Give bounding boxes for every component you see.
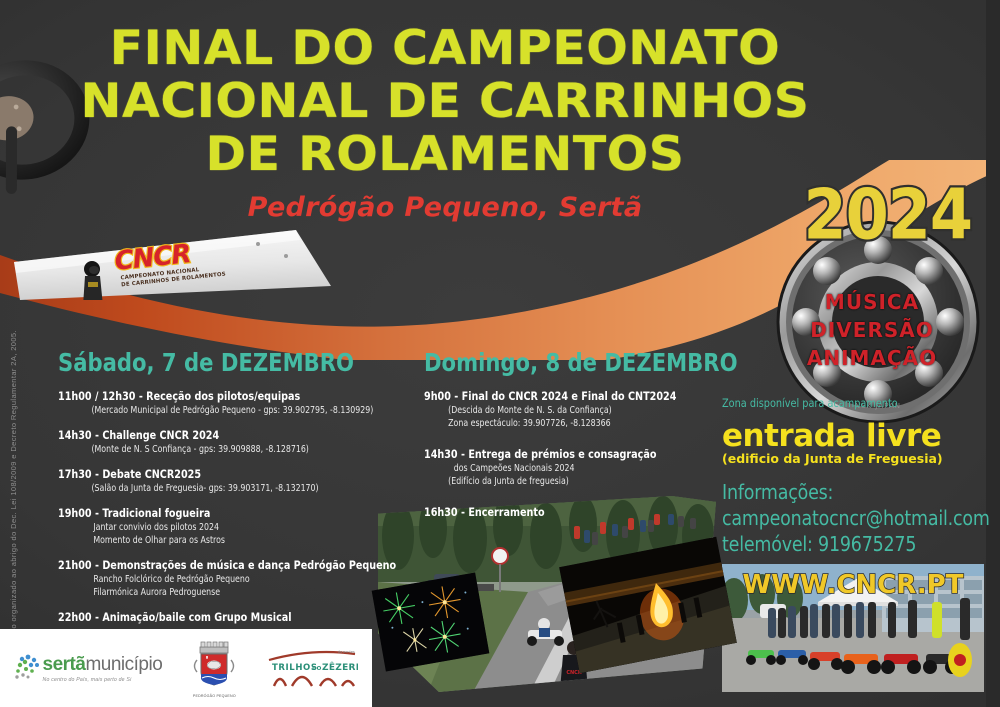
- svg-text:TRILHOS: TRILHOS: [272, 663, 318, 673]
- event-detail: (Salão da Junta de Freguesia- gps: 39.90…: [58, 482, 365, 495]
- schedule-item: 11h00 / 12h30 - Receção dos pilotos/equi…: [58, 389, 388, 417]
- crest-caption: PEDRÓGÃO PEQUENO: [193, 694, 236, 698]
- serta-dots-icon: [14, 651, 40, 685]
- event-title: 14h30 - Challenge CNCR 2024: [58, 428, 365, 443]
- contact-phone[interactable]: telemóvel: 919675275: [722, 531, 990, 557]
- schedule-item: 17h30 - Debate CNCR2025 (Salão da Junta …: [58, 467, 388, 495]
- serta-tagline: No centro do País, mais perto de Si: [43, 677, 163, 683]
- heraldic-crest-icon: [189, 638, 239, 694]
- logo-serta-municipio: sertãmunicípio No centro do País, mais p…: [14, 635, 163, 701]
- event-detail: (Descida do Monte de N. S. da Confiança): [424, 404, 694, 417]
- event-title: 19h00 - Tradicional fogueira: [58, 506, 365, 521]
- music-word-2: DIVERSÃO: [792, 316, 952, 344]
- event-title: 9h00 - Final do CNCR 2024 e Final do CNT…: [424, 389, 694, 404]
- free-entry-venue: (edificio da Junta de Freguesia): [722, 451, 943, 466]
- title-line-1: FINAL DO CAMPEONATO: [0, 22, 908, 75]
- serta-name: sertã: [43, 654, 86, 675]
- schedule-saturday: Sábado, 7 de DEZEMBRO 11h00 / 12h30 - Re…: [58, 348, 388, 636]
- year-badge: 2024: [803, 174, 972, 256]
- event-detail: Momento de Olhar para os Astros: [58, 534, 365, 547]
- event-detail: Filarmónica Aurora Pedroguense: [58, 586, 365, 599]
- event-title: 22h00 - Animação/baile com Grupo Musical: [58, 610, 365, 625]
- logo-trilhos-do-zezere: TRILHOS DO ZÊZERE As pontes: [266, 635, 358, 701]
- contact-info-block: Informações: campeonatocncr@hotmail.com …: [722, 479, 990, 557]
- event-detail: (Edifício da Junta de freguesia): [424, 475, 694, 488]
- event-detail: Jantar convivio dos pilotos 2024: [58, 521, 365, 534]
- event-title: 16h30 - Encerramento: [424, 505, 694, 520]
- poster-title: FINAL DO CAMPEONATO NACIONAL DE CARRINHO…: [0, 22, 890, 223]
- schedule-item: 9h00 - Final do CNCR 2024 e Final do CNT…: [424, 389, 714, 430]
- title-line-3: DE ROLAMENTOS: [0, 128, 908, 181]
- music-word-3: ANIMAÇÃO: [792, 344, 952, 372]
- schedule-item: 14h30 - Challenge CNCR 2024 (Monte de N.…: [58, 428, 388, 456]
- contact-email[interactable]: campeonatocncr@hotmail.com: [722, 505, 990, 531]
- event-title: 17h30 - Debate CNCR2025: [58, 467, 365, 482]
- music-tagline: MÚSICA DIVERSÃO ANIMAÇÃO: [792, 288, 952, 372]
- schedule-item: 14h30 - Entrega de prémios e consagração…: [424, 447, 714, 488]
- saturday-heading: Sábado, 7 de DEZEMBRO: [58, 348, 368, 377]
- contact-label: Informações:: [722, 479, 990, 505]
- event-detail: (Monte de N. S Confiança - gps: 39.90988…: [58, 443, 365, 456]
- music-word-1: MÚSICA: [792, 288, 952, 316]
- schedule-sunday: Domingo, 8 de DEZEMBRO 9h00 - Final do C…: [424, 348, 714, 531]
- event-title: 14h30 - Entrega de prémios e consagração: [424, 447, 694, 462]
- event-detail: dos Campeões Nacionais 2024: [424, 462, 694, 475]
- logo-pedrogao-pequeno-crest: PEDRÓGÃO PEQUENO: [189, 635, 239, 701]
- free-entry-headline: entrada livre: [722, 418, 941, 454]
- serta-municipio: município: [85, 654, 162, 675]
- event-detail: Zona espectáculo: 39.907726, -8.128366: [424, 417, 694, 430]
- svg-text:ZÊZERE: ZÊZERE: [322, 661, 358, 673]
- schedule-item: 19h00 - Tradicional fogueira Jantar conv…: [58, 506, 388, 547]
- schedule-item: 16h30 - Encerramento: [424, 505, 714, 520]
- right-edge-strip: [986, 0, 1000, 707]
- title-line-2: NACIONAL DE CARRINHOS: [0, 75, 908, 128]
- trilhos-zezere-icon: TRILHOS DO ZÊZERE As pontes: [266, 646, 358, 690]
- sponsor-logo-bar: sertãmunicípio No centro do País, mais p…: [0, 629, 372, 707]
- event-detail: Rancho Folclórico de Pedrógão Pequeno: [58, 573, 365, 586]
- poster-subtitle-location: Pedrógão Pequeno, Sertã: [0, 192, 890, 223]
- website-url[interactable]: WWW.CNCR.PT: [722, 570, 984, 600]
- svg-text:As pontes: As pontes: [338, 650, 355, 654]
- event-detail: (Mercado Municipal de Pedrógão Pequeno -…: [58, 404, 365, 417]
- legal-note-vertical: Evento organizado ao abrigo do Dec. Lei …: [9, 330, 18, 650]
- schedule-item: 21h00 - Demonstrações de música e dança …: [58, 558, 388, 599]
- event-poster: CNCR CAMPEONATO NACIONAL DE CARRINHOS DE…: [0, 0, 1000, 707]
- schedule-item: 22h00 - Animação/baile com Grupo Musical: [58, 610, 388, 625]
- svg-text:DO: DO: [312, 666, 322, 672]
- sunday-heading: Domingo, 8 de DEZEMBRO: [424, 348, 697, 377]
- event-title: 21h00 - Demonstrações de música e dança …: [58, 558, 365, 573]
- camping-note: Zona disponível para acampamento: [722, 396, 898, 410]
- event-title: 11h00 / 12h30 - Receção dos pilotos/equi…: [58, 389, 365, 404]
